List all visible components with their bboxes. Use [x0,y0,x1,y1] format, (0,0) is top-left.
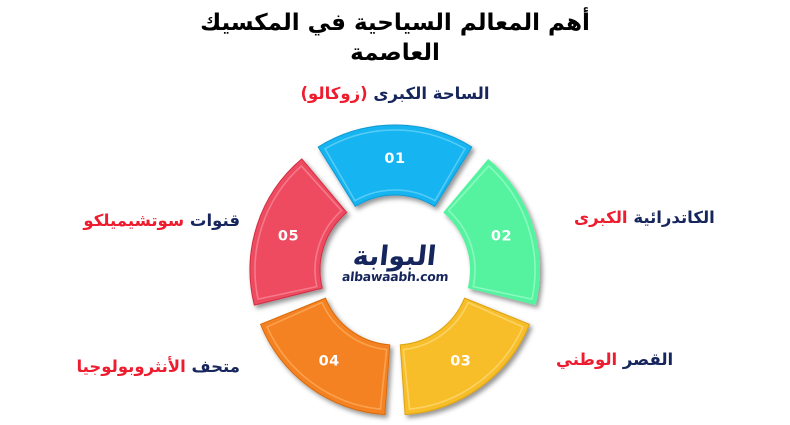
donut-segment-number-02: 02 [491,228,512,244]
donut-segment-number-04: 04 [319,354,340,370]
donut-chart: 0102030405 [240,115,550,425]
donut-segments [250,125,540,415]
donut-segment-number-05: 05 [278,228,299,244]
callout-label-03-primary: القصر [623,350,673,369]
donut-chart-svg: 0102030405 [240,115,550,425]
callout-label-02-secondary: الكبرى [574,208,628,227]
callout-label-01-primary: الساحة الكبرى [373,84,489,103]
callout-label-03-secondary: الوطني [556,350,617,369]
page-title-line-2: العاصمة [0,38,790,68]
callout-label-05-secondary: سوتشيميلكو [83,211,184,230]
callout-label-05: قنوات سوتشيميلكو [20,211,240,232]
infographic-canvas: أهم المعالم السياحية في المكسيك العاصمة … [0,0,790,420]
callout-label-01: الساحة الكبرى (زوكالو) [0,84,790,105]
callout-label-02-primary: الكاتدرائية [633,208,714,227]
callout-label-04-secondary: الأنثروبولوجيا [76,357,185,376]
callout-label-02: الكاتدرائية الكبرى [574,208,715,229]
callout-label-03: القصر الوطني [556,350,673,371]
page-title-line-1: أهم المعالم السياحية في المكسيك [0,8,790,38]
callout-label-05-primary: قنوات [190,211,240,230]
callout-label-04-primary: متحف [192,357,241,376]
donut-segment-number-03: 03 [450,354,471,370]
callout-label-04: متحف الأنثروبولوجيا [30,357,240,378]
callout-label-01-secondary: (زوكالو) [301,84,368,103]
page-title: أهم المعالم السياحية في المكسيك العاصمة [0,8,790,69]
donut-segment-number-01: 01 [384,151,405,167]
